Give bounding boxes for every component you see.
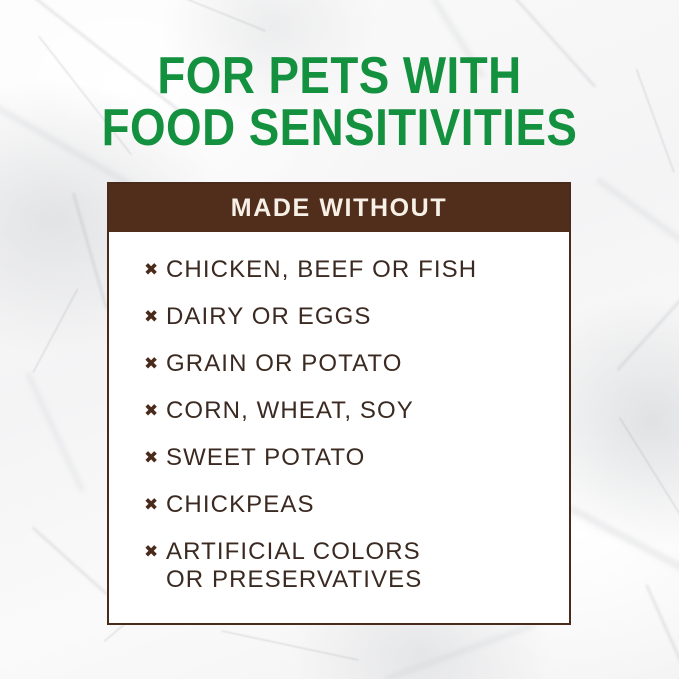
list-item: ✖ DAIRY OR EGGS bbox=[109, 303, 569, 350]
list-item-label: DAIRY OR EGGS bbox=[166, 303, 371, 331]
list-item: ✖ GRAIN OR POTATO bbox=[109, 350, 569, 397]
card-body: ✖ CHICKEN, BEEF OR FISH ✖ DAIRY OR EGGS … bbox=[109, 232, 569, 623]
list-item: ✖ CHICKPEAS bbox=[109, 491, 569, 538]
headline-line-1: FOR PETS WITH bbox=[41, 52, 639, 102]
made-without-card: MADE WITHOUT ✖ CHICKEN, BEEF OR FISH ✖ D… bbox=[107, 182, 571, 625]
cross-mark-icon: ✖ bbox=[144, 491, 166, 519]
cross-mark-icon: ✖ bbox=[144, 256, 166, 284]
cross-mark-icon: ✖ bbox=[144, 444, 166, 472]
list-item-label: CHICKEN, BEEF OR FISH bbox=[166, 256, 477, 284]
list-item-label: CORN, WHEAT, SOY bbox=[166, 397, 414, 425]
list-item-label: SWEET POTATO bbox=[166, 444, 365, 472]
list-item-label: GRAIN OR POTATO bbox=[166, 350, 403, 378]
list-item: ✖ ARTIFICIAL COLORS OR PRESERVATIVES bbox=[109, 538, 569, 600]
list-item: ✖ CHICKEN, BEEF OR FISH bbox=[109, 256, 569, 303]
list-item-label: ARTIFICIAL COLORS OR PRESERVATIVES bbox=[166, 538, 422, 594]
excluded-ingredient-list: ✖ CHICKEN, BEEF OR FISH ✖ DAIRY OR EGGS … bbox=[109, 256, 569, 600]
list-item-label: CHICKPEAS bbox=[166, 491, 315, 519]
headline-line-2: FOOD SENSITIVITIES bbox=[41, 104, 639, 154]
card-header: MADE WITHOUT bbox=[109, 184, 569, 232]
cross-mark-icon: ✖ bbox=[144, 303, 166, 331]
card-header-title: MADE WITHOUT bbox=[231, 194, 447, 223]
list-item: ✖ CORN, WHEAT, SOY bbox=[109, 397, 569, 444]
list-item: ✖ SWEET POTATO bbox=[109, 444, 569, 491]
cross-mark-icon: ✖ bbox=[144, 350, 166, 378]
headline: FOR PETS WITH FOOD SENSITIVITIES bbox=[0, 52, 679, 154]
cross-mark-icon: ✖ bbox=[144, 397, 166, 425]
cross-mark-icon: ✖ bbox=[144, 538, 166, 566]
poster: FOR PETS WITH FOOD SENSITIVITIES MADE WI… bbox=[0, 0, 679, 679]
